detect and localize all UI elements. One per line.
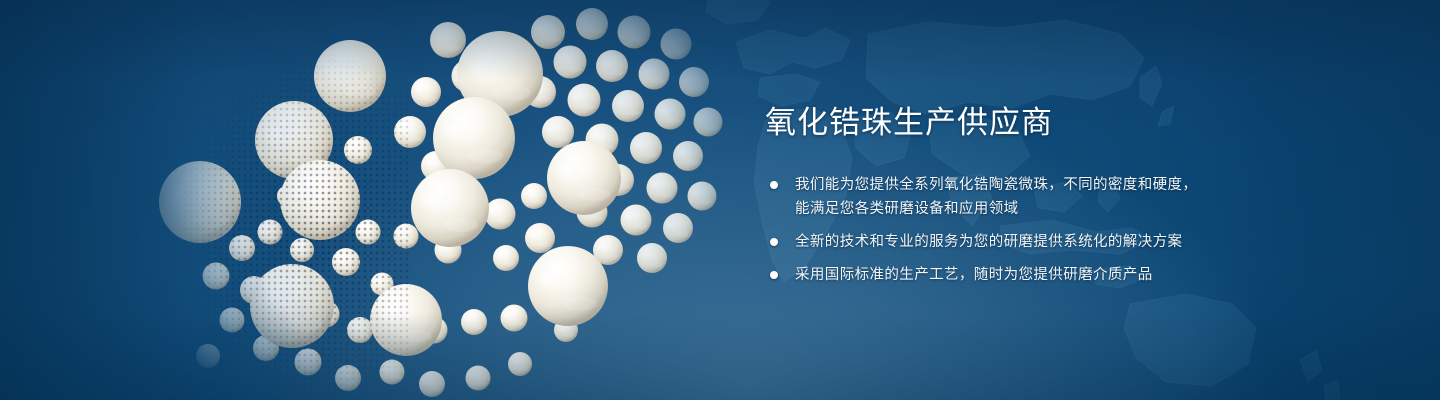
bullet-text-line: 采用国际标准的生产工艺，随时为您提供研磨介质产品: [795, 263, 1385, 287]
feature-bullet-list: 我们能为您提供全系列氧化锆陶瓷微珠，不同的密度和硬度， 能满足您各类研磨设备和应…: [765, 173, 1385, 287]
page-title: 氧化锆珠生产供应商: [765, 104, 1385, 143]
bullet-text-line: 我们能为您提供全系列氧化锆陶瓷微珠，不同的密度和硬度，: [795, 173, 1385, 197]
bullet-dot-icon: [770, 271, 778, 279]
bullet-text-line: 能满足您各类研磨设备和应用领域: [795, 197, 1385, 221]
zirconia-beads-photo: [96, 0, 736, 400]
list-item: 我们能为您提供全系列氧化锆陶瓷微珠，不同的密度和硬度， 能满足您各类研磨设备和应…: [765, 173, 1385, 221]
bullet-text-line: 全新的技术和专业的服务为您的研磨提供系统化的解决方案: [795, 230, 1385, 254]
bullet-dot-icon: [770, 238, 778, 246]
bullet-dot-icon: [770, 181, 778, 189]
banner-copy: 氧化锆珠生产供应商 我们能为您提供全系列氧化锆陶瓷微珠，不同的密度和硬度， 能满…: [765, 104, 1385, 287]
hero-banner: 氧化锆珠生产供应商 我们能为您提供全系列氧化锆陶瓷微珠，不同的密度和硬度， 能满…: [0, 0, 1440, 400]
list-item: 采用国际标准的生产工艺，随时为您提供研磨介质产品: [765, 263, 1385, 287]
list-item: 全新的技术和专业的服务为您的研磨提供系统化的解决方案: [765, 230, 1385, 254]
